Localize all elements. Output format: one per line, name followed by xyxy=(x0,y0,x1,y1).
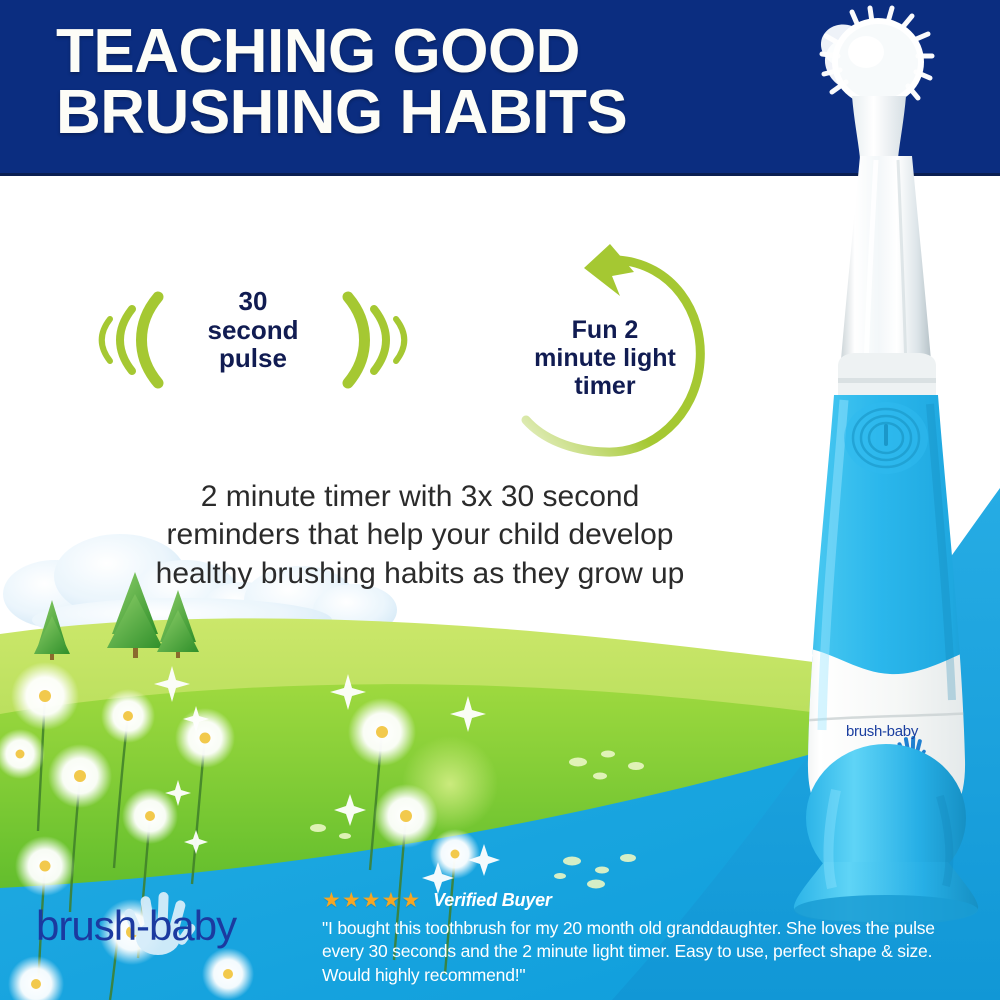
timer-label: Fun 2 minute light timer xyxy=(516,316,694,400)
brush-neck xyxy=(840,156,932,372)
vibration-arcs-left-icon xyxy=(88,285,168,395)
brush-collar xyxy=(838,353,936,398)
product-marketing-image: TEACHING GOOD BRUSHING HABITS 30 second … xyxy=(0,0,1000,1000)
brush-head-stem xyxy=(852,96,906,158)
vibration-arcs-right-icon xyxy=(338,285,418,395)
product-toothbrush: brush-baby xyxy=(780,0,1000,960)
star-rating: ★ ★ ★ ★ ★ xyxy=(322,890,420,911)
bristles xyxy=(821,8,932,106)
customer-review: ★ ★ ★ ★ ★ Verified Buyer "I bought this … xyxy=(322,888,942,987)
feature-timer: Fun 2 minute light timer xyxy=(514,238,734,478)
verified-buyer-label: Verified Buyer xyxy=(433,890,552,911)
star-icon: ★ xyxy=(381,890,400,911)
power-button[interactable] xyxy=(844,402,928,474)
review-header: ★ ★ ★ ★ ★ Verified Buyer xyxy=(322,888,942,912)
star-icon: ★ xyxy=(322,890,341,911)
star-icon: ★ xyxy=(401,890,420,911)
star-icon: ★ xyxy=(362,890,381,911)
body-paragraph: 2 minute timer with 3x 30 second reminde… xyxy=(120,478,720,593)
toothbrush-svg xyxy=(780,0,1000,960)
page-title: TEACHING GOOD BRUSHING HABITS xyxy=(56,22,756,144)
review-text: "I bought this toothbrush for my 20 mont… xyxy=(322,917,942,987)
footer-logo: brush-baby xyxy=(36,905,236,947)
product-logo-text: brush-baby xyxy=(827,723,937,740)
pulse-label: 30 second pulse xyxy=(178,287,328,373)
star-icon: ★ xyxy=(342,890,361,911)
feature-pulse: 30 second pulse xyxy=(88,285,418,400)
